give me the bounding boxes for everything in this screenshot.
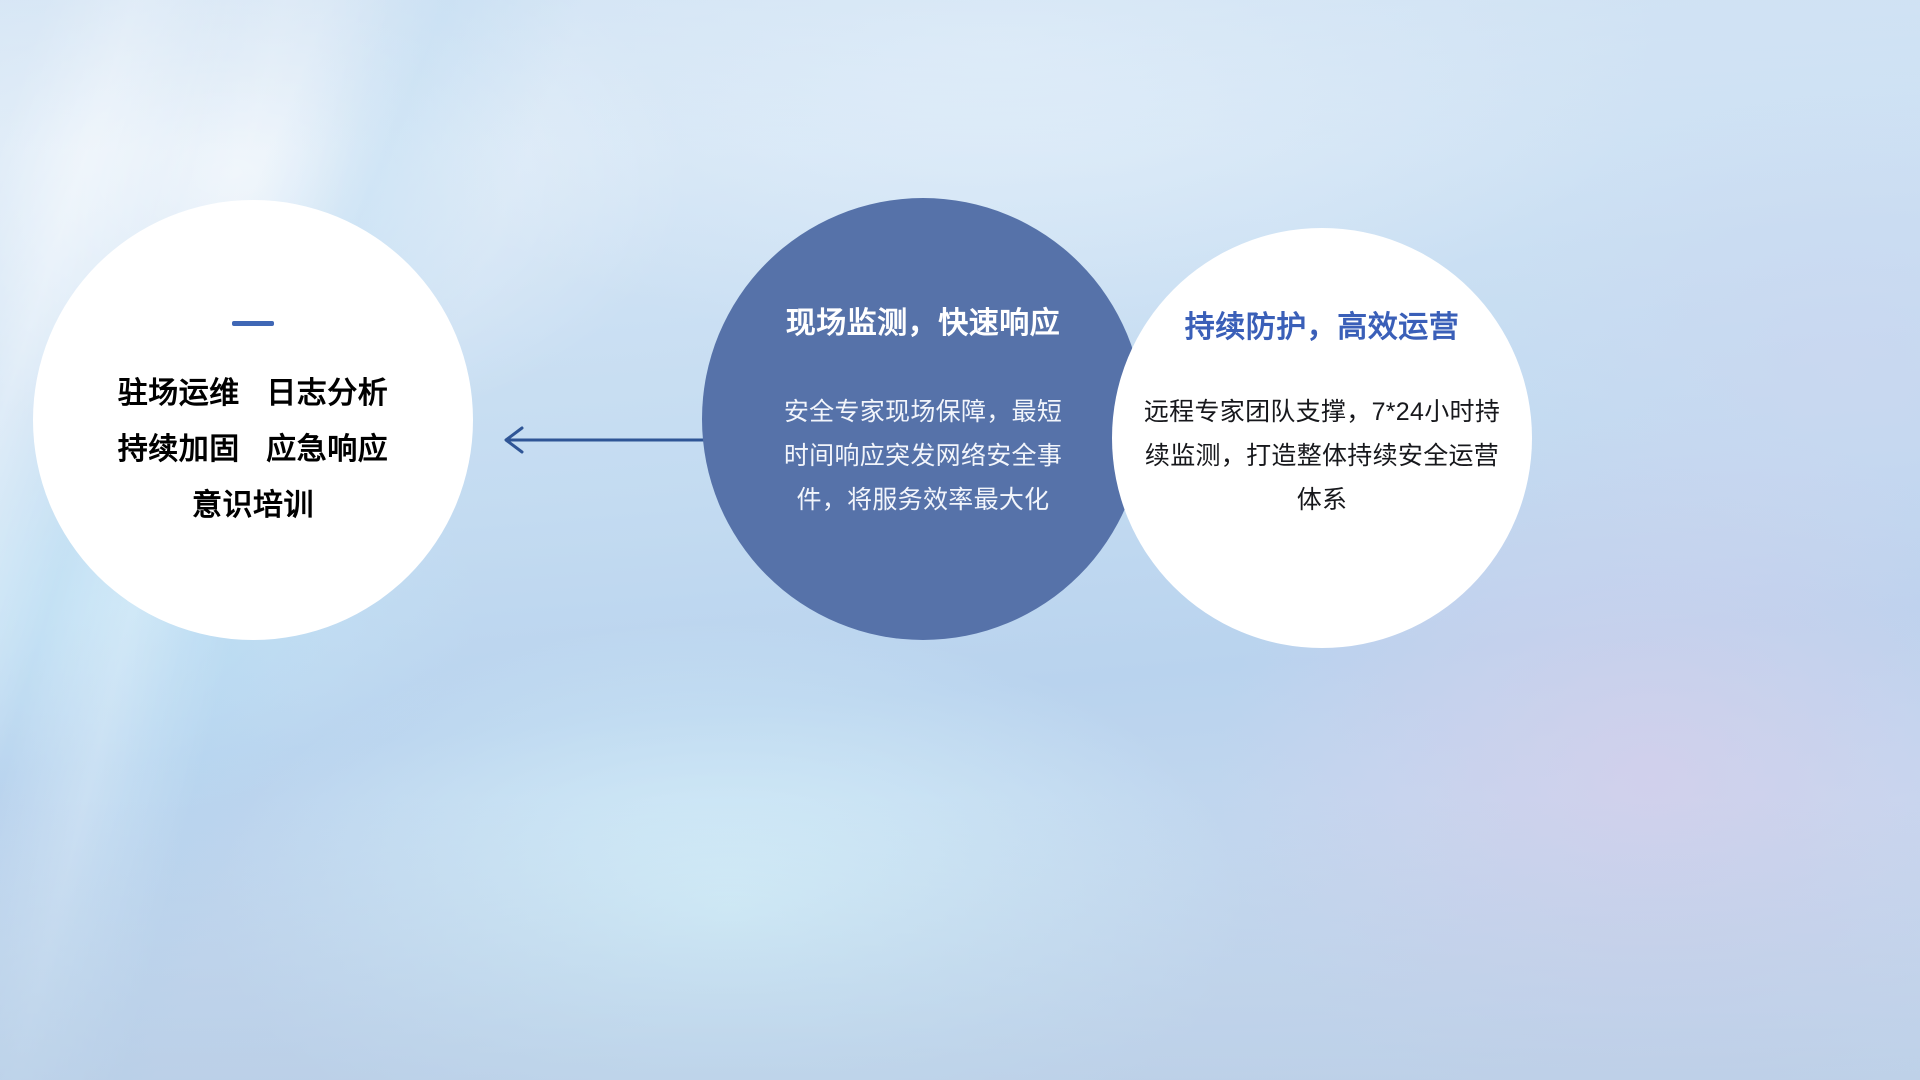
divider-dash bbox=[232, 321, 274, 326]
circle-body-text: 远程专家团队支撑，7*24小时持续监测，打造整体持续安全运营体系 bbox=[1137, 390, 1507, 522]
circle-continuous-protection[interactable]: 持续防护，高效运营 远程专家团队支撑，7*24小时持续监测，打造整体持续安全运营… bbox=[1112, 228, 1532, 648]
circle-heading: 现场监测，快速响应 bbox=[786, 298, 1061, 342]
circle-capabilities[interactable]: 驻场运维 日志分析 持续加固 应急响应 意识培训 bbox=[33, 200, 473, 640]
list-item: 持续加固 应急响应 bbox=[33, 422, 473, 478]
circle-body-text: 安全专家现场保障，最短时间响应突发网络安全事件，将服务效率最大化 bbox=[777, 390, 1069, 522]
slide-canvas: 驻场运维 日志分析 持续加固 应急响应 意识培训 现场监测，快速响应 安全专家现… bbox=[0, 0, 1920, 1080]
capabilities-list: 驻场运维 日志分析 持续加固 应急响应 意识培训 bbox=[33, 366, 473, 534]
circle-heading: 持续防护，高效运营 bbox=[1185, 302, 1460, 346]
circle-onsite-monitoring[interactable]: 现场监测，快速响应 安全专家现场保障，最短时间响应突发网络安全事件，将服务效率最… bbox=[702, 198, 1144, 640]
list-item: 驻场运维 日志分析 bbox=[33, 366, 473, 422]
list-item: 意识培训 bbox=[33, 478, 473, 534]
arrow-left-icon bbox=[492, 418, 716, 462]
